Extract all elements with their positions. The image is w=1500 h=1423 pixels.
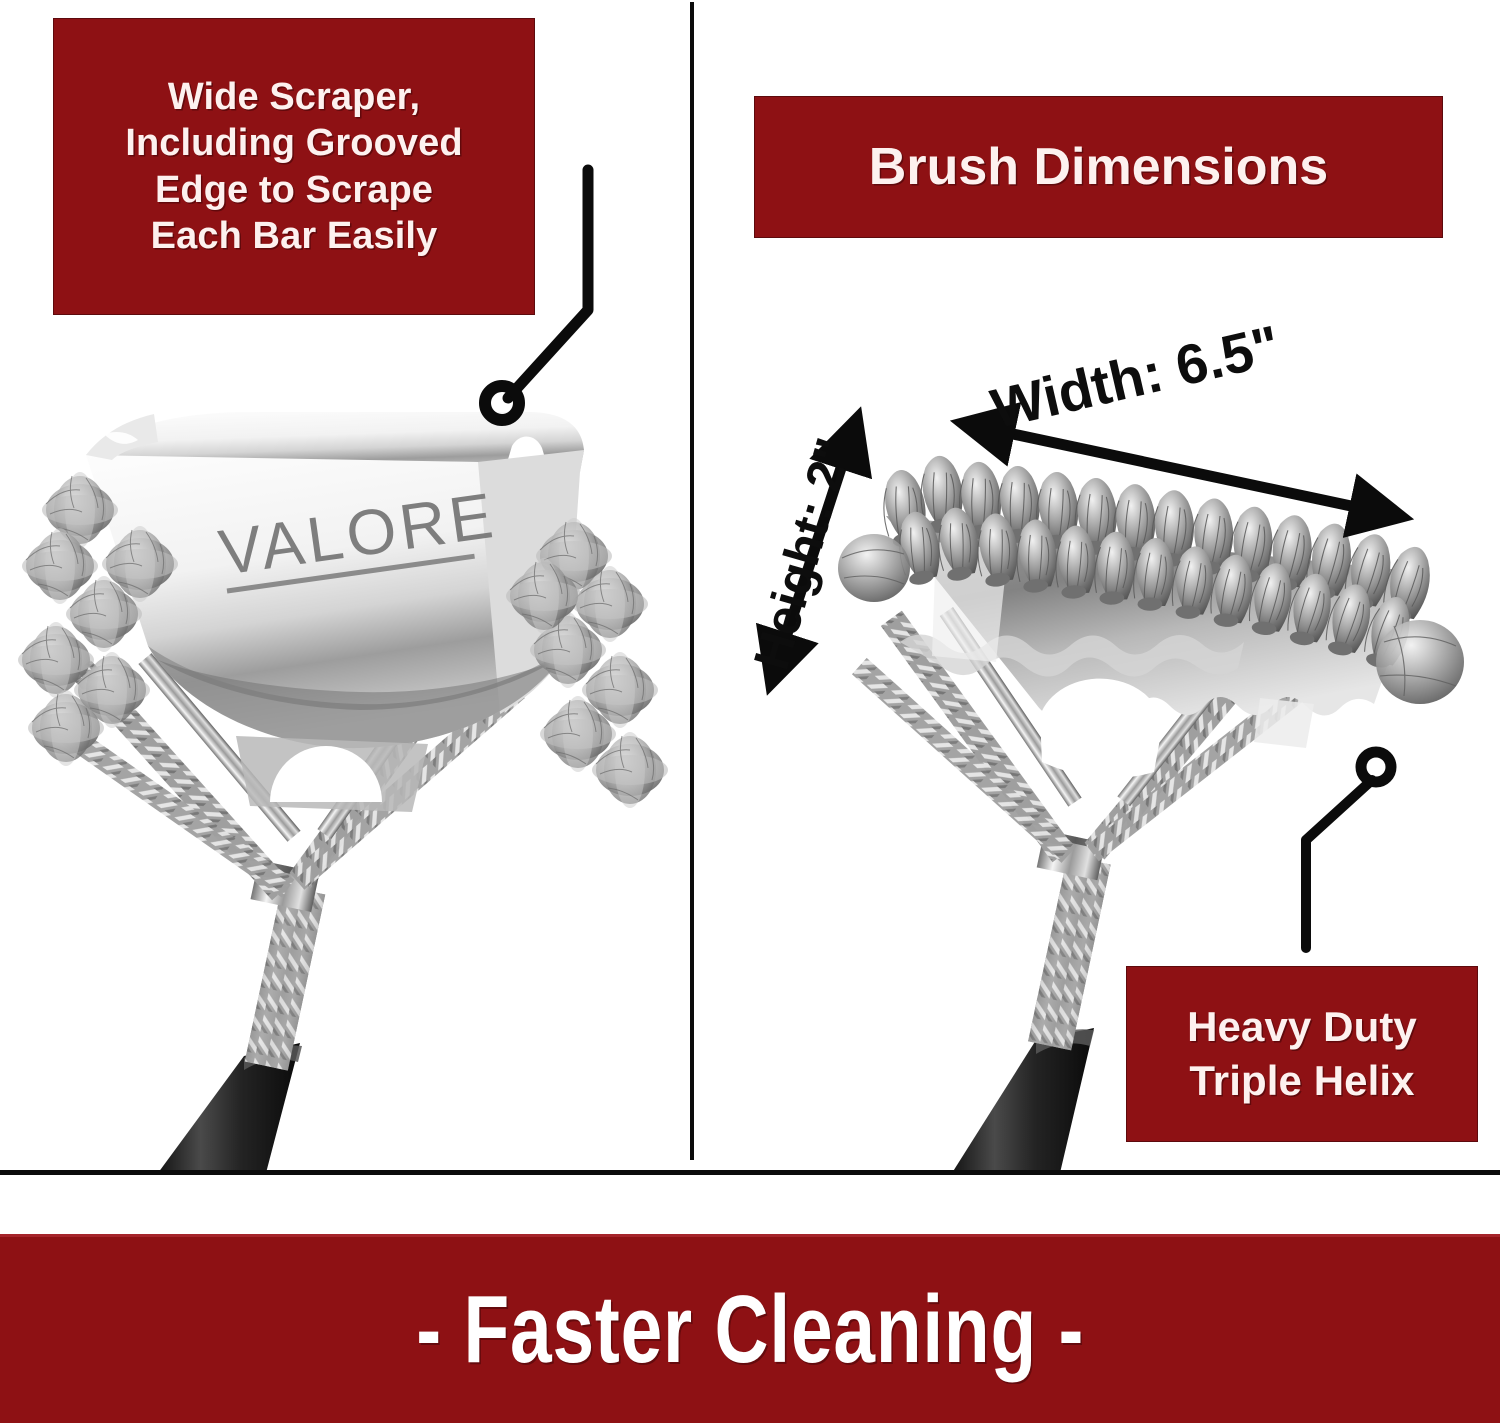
product-handle bbox=[158, 860, 338, 1173]
callout-box-wide-scraper: Wide Scraper, Including Grooved Edge to … bbox=[53, 18, 535, 315]
callout-box-heavy-duty-triple-helix: Heavy Duty Triple Helix bbox=[1126, 966, 1478, 1142]
infographic-canvas: VALORE bbox=[0, 0, 1500, 1423]
leader-line-helix bbox=[1280, 740, 1410, 960]
bottom-banner-label: - Faster Cleaning - bbox=[416, 1275, 1084, 1385]
bottom-banner: - Faster Cleaning - bbox=[0, 1234, 1500, 1423]
header-box-brush-dimensions: Brush Dimensions bbox=[754, 96, 1443, 238]
callout-label-heavy-duty-triple-helix: Heavy Duty Triple Helix bbox=[1187, 1000, 1417, 1108]
ring-pointer-icon bbox=[1361, 752, 1391, 782]
panel-divider bbox=[690, 2, 694, 1160]
product-handle bbox=[952, 830, 1111, 1173]
horizontal-rule bbox=[0, 1170, 1500, 1175]
product-image-scraper-view: VALORE bbox=[8, 398, 688, 1173]
header-label-brush-dimensions: Brush Dimensions bbox=[869, 140, 1328, 195]
ring-pointer-icon bbox=[485, 386, 519, 420]
callout-label-wide-scraper: Wide Scraper, Including Grooved Edge to … bbox=[125, 74, 462, 259]
